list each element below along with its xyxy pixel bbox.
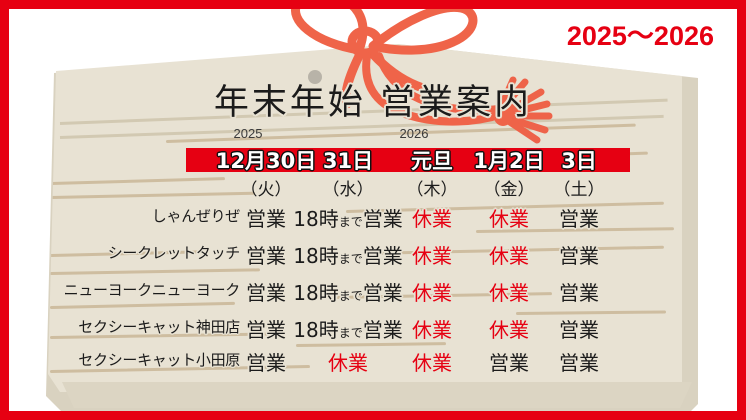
status-cell-open: 営業: [543, 314, 615, 343]
weekday-3: （金）: [469, 175, 549, 200]
status-cell-closed: 休業: [392, 347, 472, 376]
status-cell-open: 営業: [543, 347, 615, 376]
date-header-4: 3日: [543, 145, 615, 175]
table-row: セクシーキャット神田店営業18時まで営業休業休業営業: [0, 314, 746, 348]
status-cell-closed: 休業: [392, 240, 472, 269]
status-cell-open: 18時まで営業: [288, 203, 408, 232]
year-tag-row: 20252026: [0, 126, 746, 142]
status-cell-open: 営業: [543, 240, 615, 269]
year-label-2026: 2026: [374, 126, 454, 141]
table-row: ニューヨークニューヨーク営業18時まで営業休業休業営業: [0, 277, 746, 311]
table-row: セクシーキャット小田原営業休業休業営業営業: [0, 347, 746, 381]
status-cell-closed: 休業: [392, 203, 472, 232]
weekday-1: （水）: [288, 175, 408, 200]
status-cell-open: 営業: [469, 347, 549, 376]
frame-top: [0, 0, 746, 9]
table-row: シークレットタッチ営業18時まで営業休業休業営業: [0, 240, 746, 274]
date-header-2: 元旦: [392, 145, 472, 175]
weekday-header-row: （火）（水）（木）（金）（土）: [0, 175, 746, 197]
status-cell-open: 18時まで営業: [288, 277, 408, 306]
status-cell-closed: 休業: [469, 240, 549, 269]
status-cell-closed: 休業: [469, 277, 549, 306]
date-header-row: 12月30日31日元旦1月2日3日: [0, 145, 746, 175]
status-cell-closed: 休業: [469, 314, 549, 343]
table-row: しゃんぜりぜ営業18時まで営業休業休業営業: [0, 203, 746, 237]
status-cell-open: 18時まで営業: [288, 314, 408, 343]
status-cell-open: 営業: [543, 277, 615, 306]
schedule-table: 20252026 12月30日31日元旦1月2日3日 （火）（水）（木）（金）（…: [0, 0, 746, 420]
year-range-badge: 2025〜2026: [567, 14, 714, 53]
status-cell-closed: 休業: [392, 277, 472, 306]
status-cell-closed: 休業: [469, 203, 549, 232]
frame-bottom: [0, 411, 746, 420]
status-cell-closed: 休業: [392, 314, 472, 343]
status-cell-open: 18時まで営業: [288, 240, 408, 269]
status-cell-closed: 休業: [288, 347, 408, 376]
weekday-4: （土）: [543, 175, 615, 200]
date-header-3: 1月2日: [469, 145, 549, 175]
poster-canvas: 年末年始 営業案内 2025〜2026 20252026 12月30日31日元旦…: [0, 0, 746, 420]
frame-right: [737, 0, 746, 420]
frame-left: [0, 0, 9, 420]
weekday-2: （木）: [392, 175, 472, 200]
year-label-2025: 2025: [196, 126, 300, 141]
status-cell-open: 営業: [543, 203, 615, 232]
date-header-1: 31日: [288, 145, 408, 175]
